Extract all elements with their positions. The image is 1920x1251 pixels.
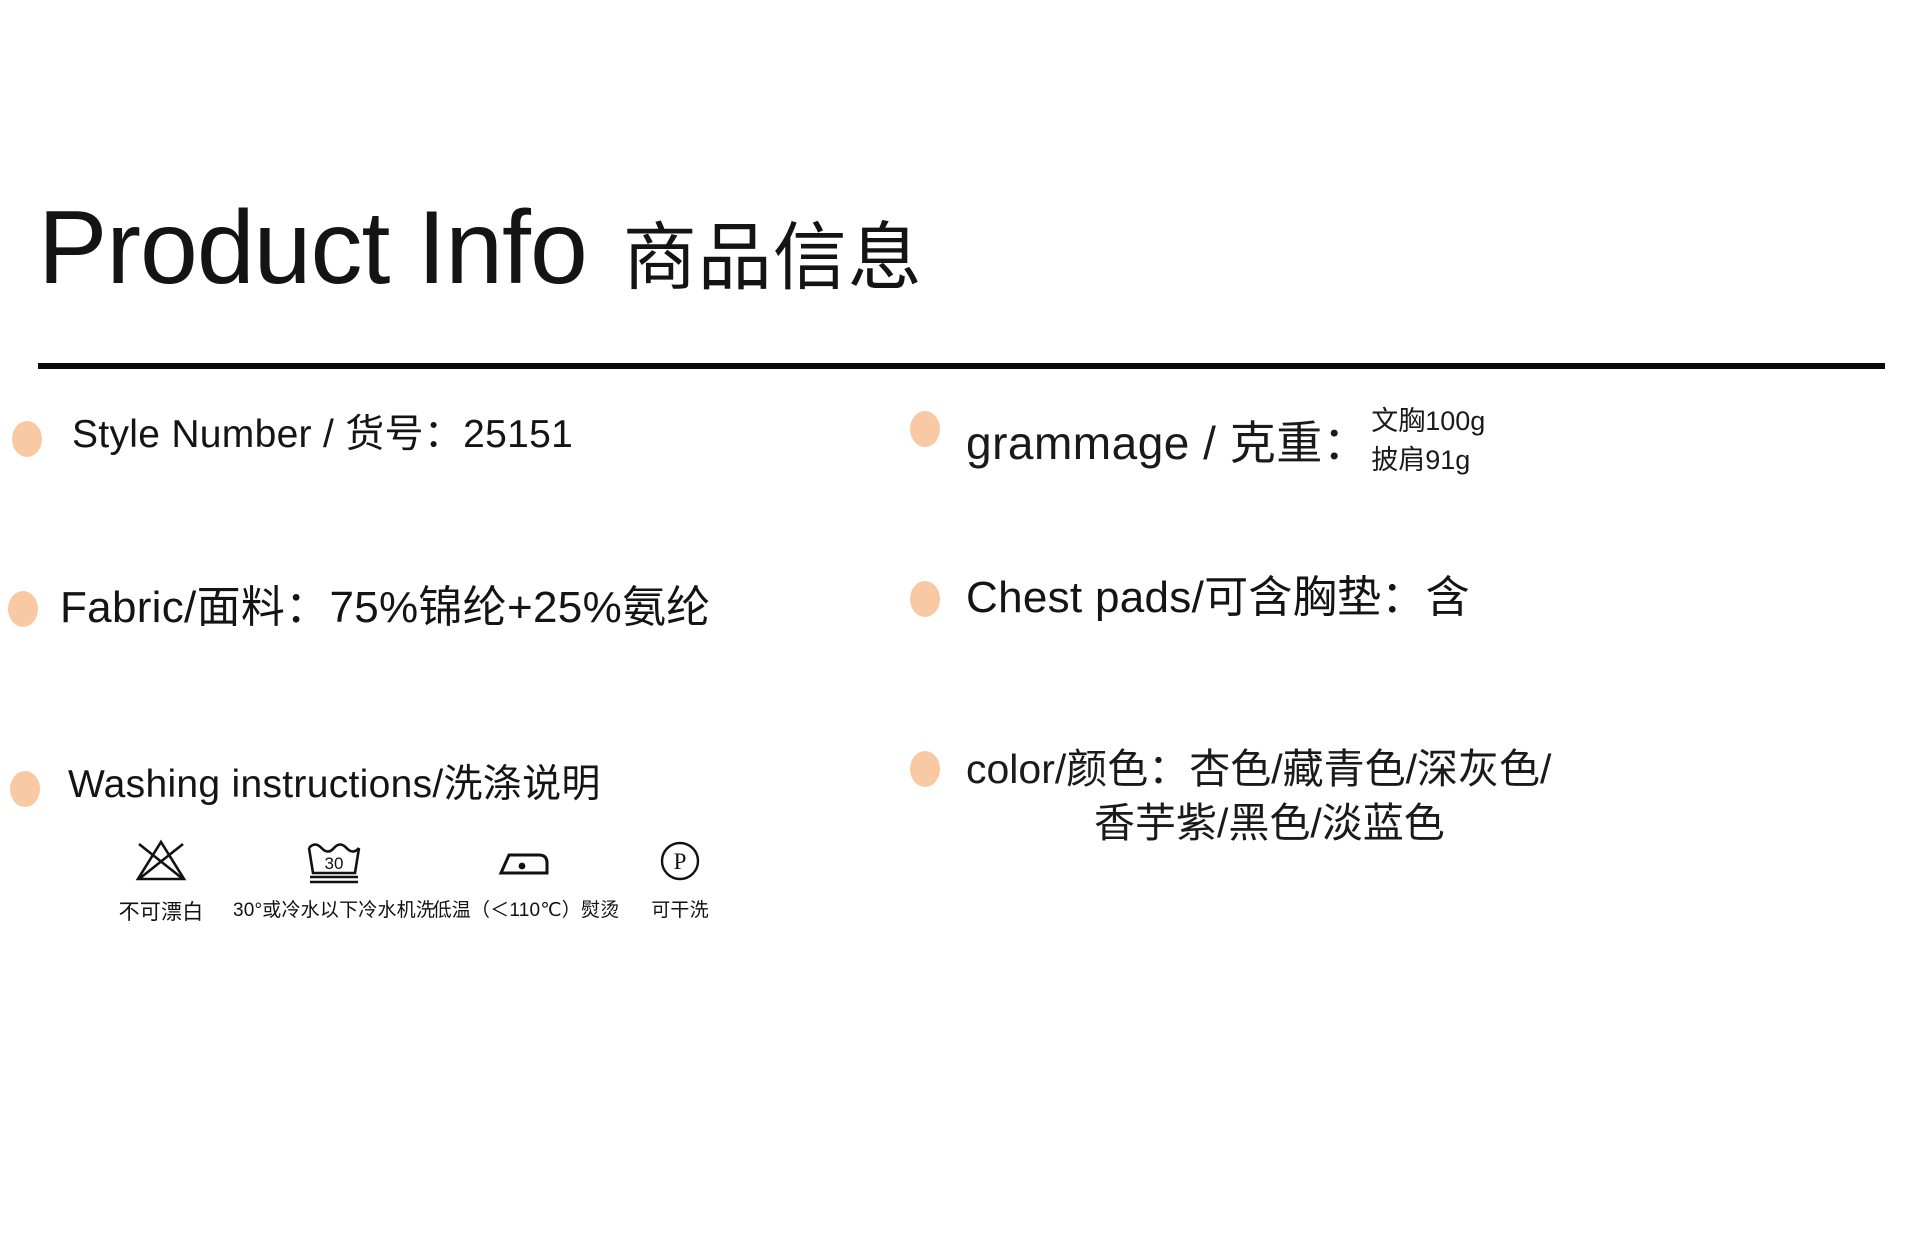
page-title-chinese: 商品信息: [623, 221, 923, 295]
grammage-line: grammage / 克重： 文胸100g 披肩91g: [966, 402, 1485, 484]
bullet-dot-icon: [12, 421, 42, 457]
bullet-dot-icon: [910, 411, 940, 447]
grammage-value-shawl: 披肩91g: [1371, 441, 1485, 480]
washing-body: Washing instructions/洗涤说明 不可漂白: [68, 762, 740, 925]
washing-heading-text: Washing instructions/洗涤说明: [68, 762, 740, 808]
grammage-label: grammage / 克重：: [966, 418, 1369, 469]
svg-text:P: P: [674, 849, 687, 874]
care-caption-iron-low: 低温（＜110℃）熨烫: [433, 900, 620, 923]
bullet-dot-icon: [10, 771, 40, 807]
info-row-chest-pads: Chest pads/可含胸垫：含: [910, 572, 1470, 624]
page-header: Product Info 商品信息: [38, 196, 923, 300]
bullet-dot-icon: [910, 581, 940, 617]
info-row-style-number: Style Number / 货号：25151: [12, 412, 573, 458]
info-row-grammage: grammage / 克重： 文胸100g 披肩91g: [910, 402, 1485, 484]
fabric-text: Fabric/面料：75%锦纶+25%氨纶: [60, 582, 711, 634]
product-info-page: Product Info 商品信息 Style Number / 货号：2515…: [0, 0, 1920, 1251]
color-lines: color/颜色：杏色/藏青色/深灰色/ 香芋紫/黑色/淡蓝色: [966, 742, 1551, 850]
care-caption-dry-clean: 可干洗: [651, 900, 709, 923]
bullet-dot-icon: [910, 751, 940, 787]
dry-clean-p-icon: P: [657, 834, 703, 888]
color-line-first: color/颜色：杏色/藏青色/深灰色/: [966, 742, 1551, 796]
info-row-color: color/颜色：杏色/藏青色/深灰色/ 香芋紫/黑色/淡蓝色: [910, 742, 1551, 850]
do-not-bleach-icon: [134, 834, 188, 888]
svg-text:30: 30: [325, 854, 344, 873]
style-number-text: Style Number / 货号：25151: [72, 412, 573, 458]
care-symbol-dry-clean: P 可干洗: [620, 834, 740, 923]
care-caption-machine-wash: 30°或冷水以下冷水机洗: [233, 900, 435, 923]
care-symbol-do-not-bleach: 不可漂白: [86, 834, 236, 925]
iron-low-temperature-icon: [495, 834, 557, 888]
style-number-body: Style Number / 货号：25151: [72, 412, 573, 458]
machine-wash-30-icon: 30: [303, 834, 365, 888]
care-symbols-strip: 不可漂白 30 30°或冷水以下冷水机洗: [86, 834, 740, 925]
info-row-fabric: Fabric/面料：75%锦纶+25%氨纶: [8, 582, 711, 634]
chest-pads-text: Chest pads/可含胸垫：含: [966, 572, 1470, 624]
color-line-second: 香芋紫/黑色/淡蓝色: [966, 796, 1551, 850]
care-symbol-iron-low: 低温（＜110℃）熨烫: [432, 834, 620, 923]
page-title-english: Product Info: [38, 196, 587, 300]
info-row-washing-instructions: Washing instructions/洗涤说明 不可漂白: [10, 762, 740, 925]
bullet-dot-icon: [8, 591, 38, 627]
header-divider-rule: [38, 363, 1885, 369]
grammage-values: 文胸100g 披肩91g: [1371, 402, 1485, 484]
grammage-body: grammage / 克重： 文胸100g 披肩91g: [966, 402, 1485, 484]
care-caption-do-not-bleach: 不可漂白: [119, 900, 204, 925]
chest-pads-body: Chest pads/可含胸垫：含: [966, 572, 1470, 624]
fabric-body: Fabric/面料：75%锦纶+25%氨纶: [60, 582, 711, 634]
grammage-value-bra: 文胸100g: [1371, 402, 1485, 441]
color-body: color/颜色：杏色/藏青色/深灰色/ 香芋紫/黑色/淡蓝色: [966, 742, 1551, 850]
care-symbol-machine-wash: 30 30°或冷水以下冷水机洗: [236, 834, 432, 923]
